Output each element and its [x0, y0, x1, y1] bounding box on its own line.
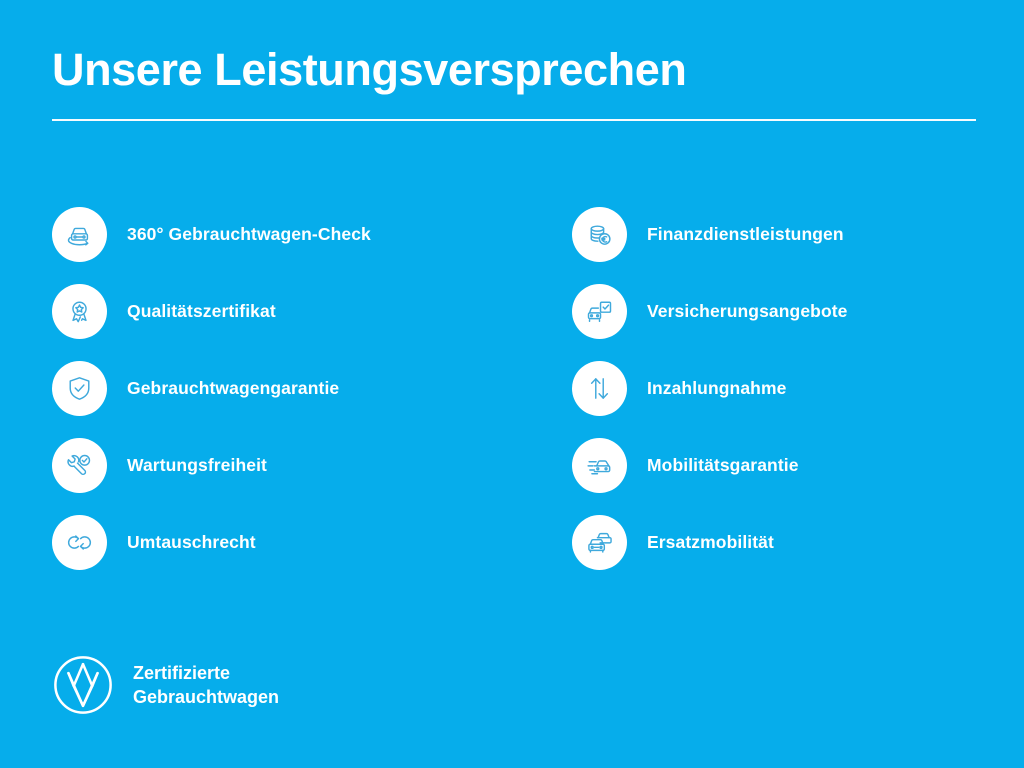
- feature-item-360-check[interactable]: 360° Gebrauchtwagen-Check: [52, 196, 572, 273]
- feature-label: Gebrauchtwagengarantie: [127, 378, 339, 399]
- feature-item-quality-certificate[interactable]: Qualitätszertifikat: [52, 273, 572, 350]
- feature-item-maintenance-free[interactable]: Wartungsfreiheit: [52, 427, 572, 504]
- page-title: Unsere Leistungsversprechen: [52, 46, 976, 95]
- feature-item-trade-in[interactable]: Inzahlungnahme: [572, 350, 982, 427]
- feature-item-replacement-mobility[interactable]: Ersatzmobilität: [572, 504, 982, 581]
- feature-label: Qualitätszertifikat: [127, 301, 276, 322]
- feature-label: 360° Gebrauchtwagen-Check: [127, 224, 371, 245]
- feature-label: Umtauschrecht: [127, 532, 256, 553]
- slide-root: Unsere Leistungsversprechen 360° Gebrauc…: [0, 0, 1024, 768]
- title-divider: [52, 119, 976, 121]
- car-speed-lines-icon: [572, 438, 627, 493]
- feature-label: Ersatzmobilität: [647, 532, 774, 553]
- award-rosette-icon: [52, 284, 107, 339]
- shield-check-icon: [52, 361, 107, 416]
- arrows-up-down-icon: [572, 361, 627, 416]
- exchange-arrows-icon: [52, 515, 107, 570]
- feature-label: Finanzdienstleistungen: [647, 224, 844, 245]
- coins-euro-icon: [572, 207, 627, 262]
- wrench-check-icon: [52, 438, 107, 493]
- brand-line-2: Gebrauchtwagen: [133, 685, 279, 709]
- feature-label: Inzahlungnahme: [647, 378, 786, 399]
- feature-item-return-right[interactable]: Umtauschrecht: [52, 504, 572, 581]
- brand-lockup: Zertifizierte Gebrauchtwagen: [52, 654, 279, 716]
- car-document-check-icon: [572, 284, 627, 339]
- feature-grid: 360° Gebrauchtwagen-Check Finanzdienstle…: [52, 196, 982, 581]
- feature-item-financial-services[interactable]: Finanzdienstleistungen: [572, 196, 982, 273]
- brand-text: Zertifizierte Gebrauchtwagen: [133, 661, 279, 710]
- feature-item-mobility-guarantee[interactable]: Mobilitätsgarantie: [572, 427, 982, 504]
- feature-label: Versicherungsangebote: [647, 301, 848, 322]
- feature-item-insurance-offers[interactable]: Versicherungsangebote: [572, 273, 982, 350]
- car-360-check-icon: [52, 207, 107, 262]
- brand-line-1: Zertifizierte: [133, 661, 279, 685]
- volkswagen-logo-icon: [52, 654, 114, 716]
- slide-header: Unsere Leistungsversprechen: [52, 46, 976, 121]
- two-cars-icon: [572, 515, 627, 570]
- feature-label: Wartungsfreiheit: [127, 455, 267, 476]
- feature-item-warranty[interactable]: Gebrauchtwagengarantie: [52, 350, 572, 427]
- feature-label: Mobilitätsgarantie: [647, 455, 799, 476]
